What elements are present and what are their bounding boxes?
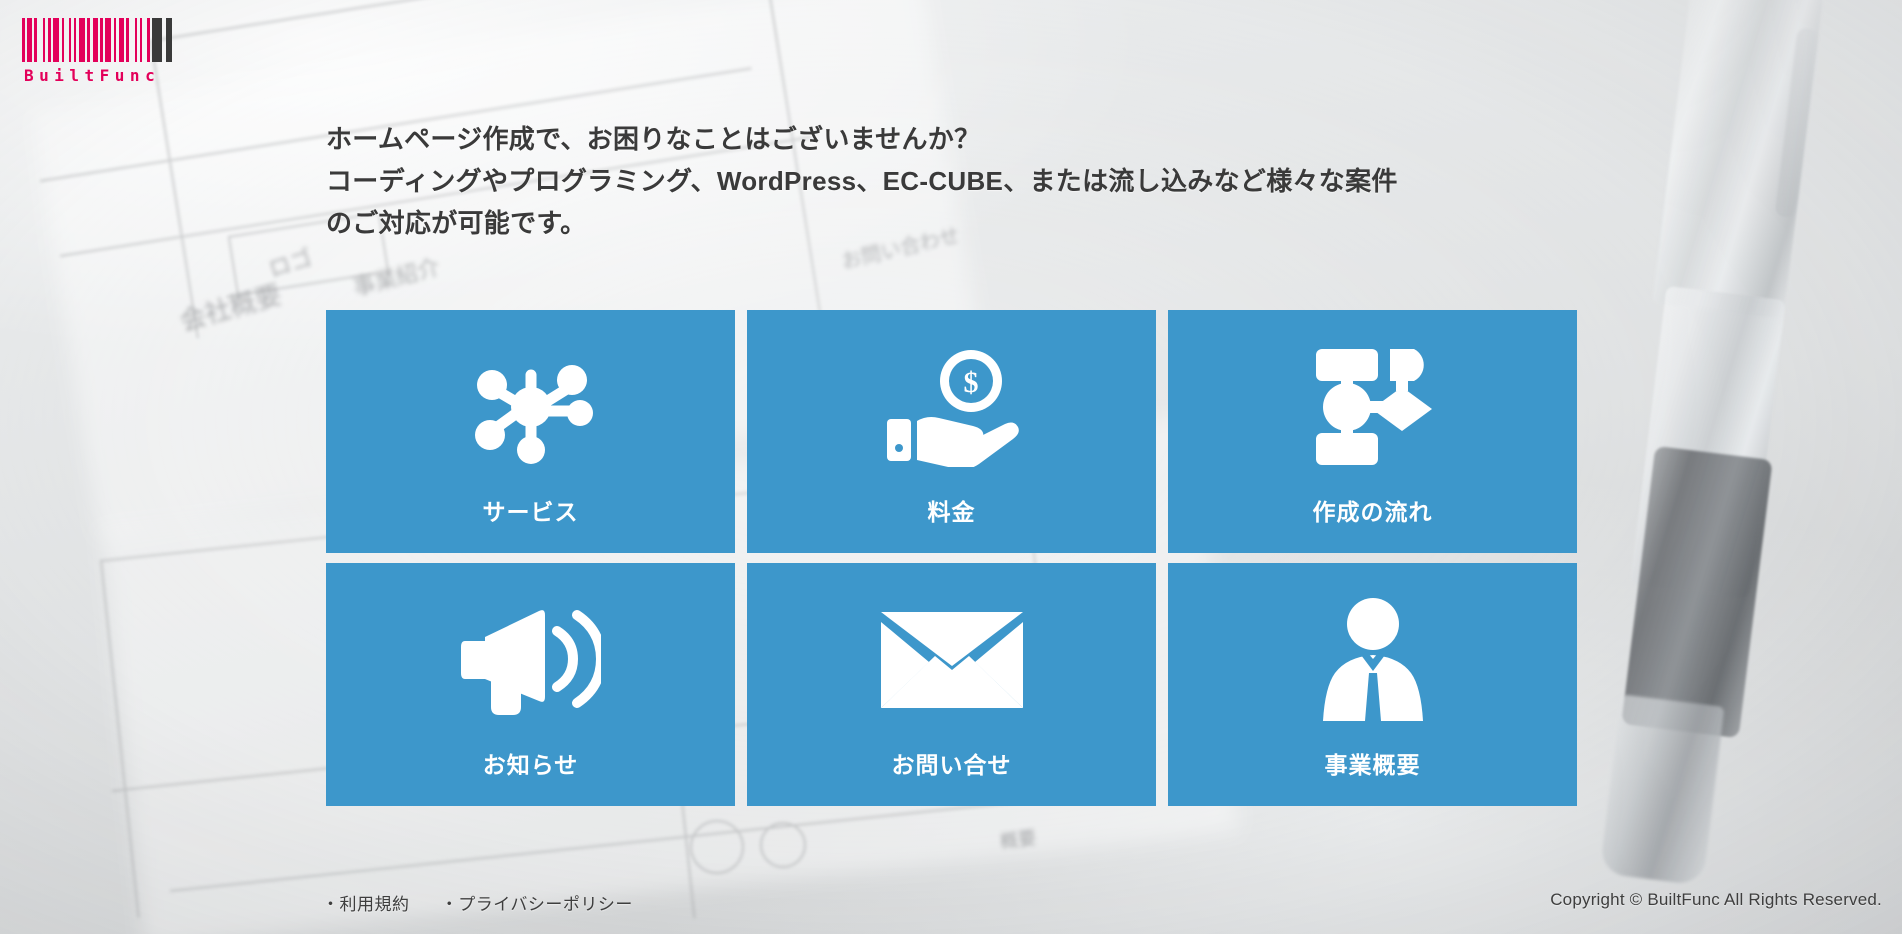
page-headline: ホームページ作成で、お困りなことはございませんか？ コーディングやプログラミング… (326, 118, 1656, 244)
headline-line-1: ホームページ作成で、お困りなことはございませんか？ (326, 118, 1656, 160)
network-nodes-icon (326, 310, 735, 493)
logo-wordmark: BuiltFunc (22, 66, 232, 85)
tile-service[interactable]: サービス (326, 310, 735, 553)
businessperson-icon (1168, 563, 1577, 746)
tile-label: お問い合せ (747, 746, 1156, 806)
footer-link-terms[interactable]: ・利用規約 (322, 895, 410, 914)
flowchart-icon (1168, 310, 1577, 493)
tile-contact[interactable]: お問い合せ (747, 563, 1156, 806)
tile-price[interactable]: $ 料金 (747, 310, 1156, 553)
tile-label: 作成の流れ (1168, 493, 1577, 553)
tile-label: 料金 (747, 493, 1156, 553)
copyright-text: Copyright © BuiltFunc All Rights Reserve… (1550, 890, 1882, 910)
site-logo[interactable]: BuiltFunc (22, 18, 232, 85)
tile-label: サービス (326, 493, 735, 553)
headline-line-3: のご対応が可能です。 (326, 202, 1656, 244)
tile-label: お知らせ (326, 746, 735, 806)
svg-text:$: $ (963, 366, 978, 399)
footer-links: ・利用規約 ・プライバシーポリシー (322, 890, 659, 915)
barcode-icon (22, 18, 232, 62)
headline-line-2: コーディングやプログラミング、WordPress、EC-CUBE、または流し込み… (326, 160, 1656, 202)
tile-label: 事業概要 (1168, 746, 1577, 806)
tile-flow[interactable]: 作成の流れ (1168, 310, 1577, 553)
tile-about[interactable]: 事業概要 (1168, 563, 1577, 806)
megaphone-icon (326, 563, 735, 746)
envelope-icon (747, 563, 1156, 746)
hand-coin-icon: $ (747, 310, 1156, 493)
footer-link-privacy[interactable]: ・プライバシーポリシー (441, 895, 633, 914)
tile-grid: サービス $ 料金 (326, 310, 1577, 806)
tile-news[interactable]: お知らせ (326, 563, 735, 806)
